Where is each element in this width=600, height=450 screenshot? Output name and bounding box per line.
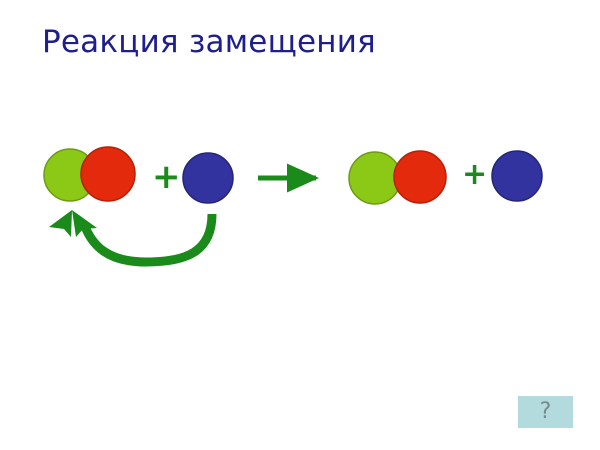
substitution-curved-arrow [49, 210, 212, 262]
question-mark-icon: ? [540, 401, 552, 423]
reactant-plus-sign: + [152, 160, 181, 194]
reactant-molecule [44, 147, 135, 201]
slide-canvas: Реакция замещения [0, 0, 600, 450]
blue-atom [183, 153, 233, 203]
blue-atom [492, 151, 542, 201]
product-molecule [349, 151, 446, 204]
red-atom [81, 147, 135, 201]
product-plus-sign: + [462, 160, 487, 190]
reactant-free-atom [183, 153, 233, 203]
reaction-equation-diagram [0, 0, 600, 450]
missing-image-placeholder[interactable]: ? [518, 396, 573, 428]
red-atom [394, 151, 446, 203]
green-atom [349, 152, 401, 204]
product-free-atom [492, 151, 542, 201]
